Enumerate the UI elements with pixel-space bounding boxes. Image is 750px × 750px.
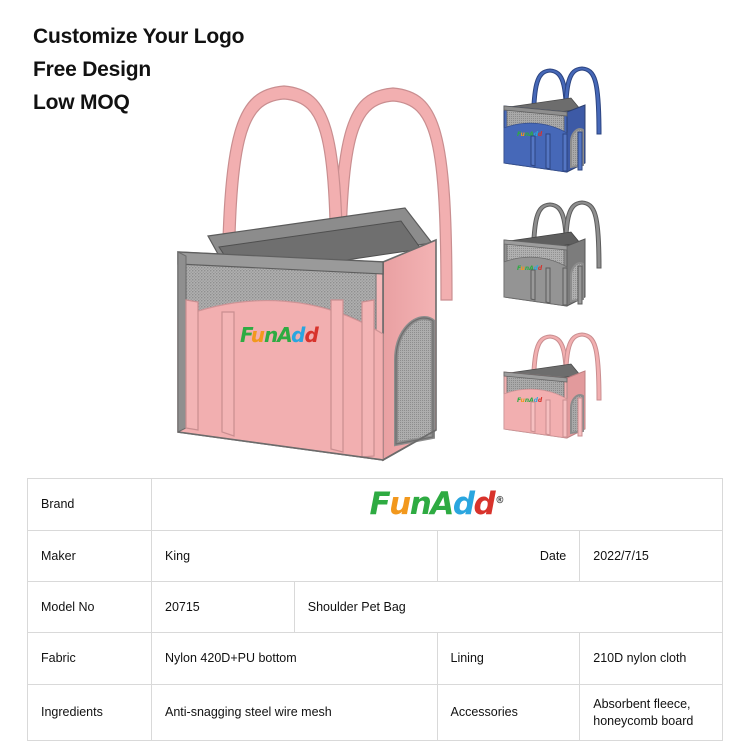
- svg-text:FunAdd: FunAdd: [240, 323, 319, 347]
- headline-block: Customize Your Logo Free Design Low MOQ: [33, 20, 244, 119]
- table-row-brand: Brand FunAdd®: [28, 479, 723, 531]
- cell-model-label: Model No: [28, 582, 152, 633]
- cell-date-label: Date: [437, 531, 580, 582]
- bag-handle-front-left: [222, 312, 234, 436]
- bag-logo-funadd: FunAdd: [240, 323, 319, 347]
- cell-lining-value: 210D nylon cloth: [580, 633, 723, 685]
- spec-table: Brand FunAdd® Maker King Date 2022/7/15 …: [27, 478, 723, 741]
- bag-handle-front-right: [331, 300, 343, 452]
- funadd-wordmark: FunAdd®: [369, 489, 504, 520]
- bag-handle-front-left-2: [186, 300, 198, 430]
- spec-sheet: Customize Your Logo Free Design Low MOQ: [0, 0, 750, 750]
- cell-maker-value: King: [152, 531, 438, 582]
- cell-brand-label: Brand: [28, 479, 152, 531]
- color-variant-list: FunAdd: [487, 50, 627, 465]
- cell-brand-logo: FunAdd®: [152, 479, 723, 531]
- svg-text:FunAdd: FunAdd: [517, 397, 543, 404]
- table-row-model: Model No 20715 Shoulder Pet Bag: [28, 582, 723, 633]
- registered-mark-icon: ®: [495, 495, 504, 506]
- cell-ingredients-label: Ingredients: [28, 685, 152, 741]
- logo-letter-d2: d: [474, 489, 495, 520]
- table-row-fabric: Fabric Nylon 420D+PU bottom Lining 210D …: [28, 633, 723, 685]
- cell-ingredients-value: Anti-snagging steel wire mesh: [152, 685, 438, 741]
- cell-accessories-value: Absorbent fleece, honeycomb board: [580, 685, 723, 741]
- cell-fabric-value: Nylon 420D+PU bottom: [152, 633, 438, 685]
- bag-handle-front-right-2: [362, 300, 374, 457]
- cell-model-description: Shoulder Pet Bag: [294, 582, 722, 633]
- cell-date-value: 2022/7/15: [580, 531, 723, 582]
- cell-accessories-label: Accessories: [437, 685, 580, 741]
- headline-line-3: Low MOQ: [33, 86, 244, 119]
- svg-text:FunAdd: FunAdd: [517, 131, 543, 138]
- logo-letter-a: A: [430, 489, 453, 520]
- headline-line-1: Customize Your Logo: [33, 20, 244, 53]
- logo-letter-u: u: [389, 489, 410, 520]
- logo-letter-d1: d: [453, 489, 474, 520]
- cell-lining-label: Lining: [437, 633, 580, 685]
- svg-text:FunAdd: FunAdd: [517, 265, 543, 272]
- headline-line-2: Free Design: [33, 53, 244, 86]
- cell-model-value: 20715: [152, 582, 295, 633]
- variant-pink[interactable]: FunAdd: [487, 316, 623, 451]
- logo-letter-f: F: [369, 489, 389, 520]
- logo-letter-n: n: [410, 489, 431, 520]
- table-row-ingredients: Ingredients Anti-snagging steel wire mes…: [28, 685, 723, 741]
- variant-grey[interactable]: FunAdd: [487, 184, 623, 319]
- cell-maker-label: Maker: [28, 531, 152, 582]
- cell-fabric-label: Fabric: [28, 633, 152, 685]
- table-row-maker: Maker King Date 2022/7/15: [28, 531, 723, 582]
- bag-left-edge: [178, 252, 186, 432]
- variant-blue[interactable]: FunAdd: [487, 50, 623, 185]
- bag-side-mesh-window: [396, 318, 433, 444]
